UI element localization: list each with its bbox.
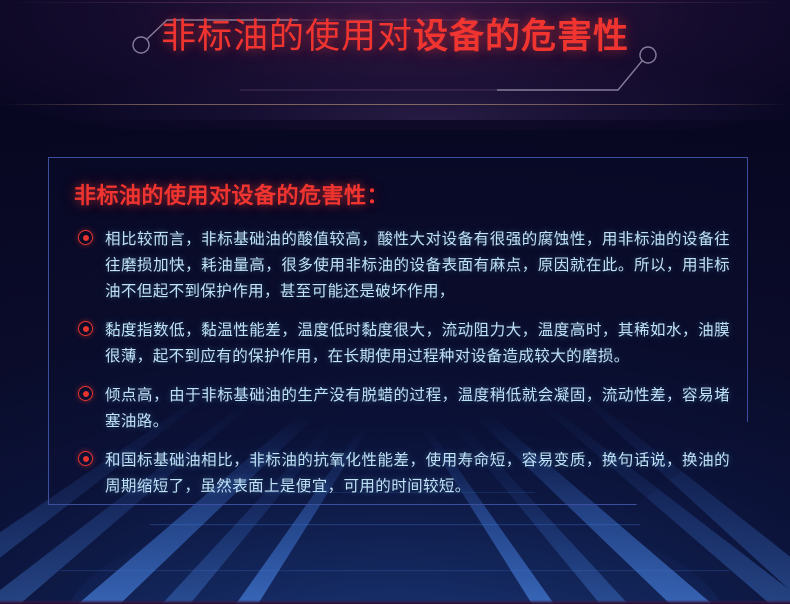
- page-root: 非标油的使用对设备的危害性 非标油的使用对设备的危害性： 相比较而言，非标基础油…: [0, 0, 790, 604]
- list-item: 和国标基础油相比，非标油的抗氧化性能差，使用寿命短，容易变质，换句话说，换油的周…: [74, 447, 730, 499]
- target-dot-icon: [78, 451, 93, 466]
- page-title-bold: 设备的危害性: [413, 17, 629, 57]
- list-item-text: 倾点高，由于非标基础油的生产没有脱蜡的过程，温度稍低就会凝固，流动性差，容易堵塞…: [105, 382, 730, 434]
- list-item-text: 和国标基础油相比，非标油的抗氧化性能差，使用寿命短，容易变质，换句话说，换油的周…: [105, 447, 730, 499]
- list-item: 相比较而言，非标基础油的酸值较高，酸性大对设备有很强的腐蚀性，用非标油的设备往往…: [74, 226, 730, 304]
- list-item: 黏度指数低，黏温性能差，温度低时黏度很大，流动阻力大，温度高时，其稀如水，油膜很…: [74, 317, 730, 369]
- content-panel: 非标油的使用对设备的危害性： 相比较而言，非标基础油的酸值较高，酸性大对设备有很…: [48, 157, 748, 517]
- list-item: 倾点高，由于非标基础油的生产没有脱蜡的过程，温度稍低就会凝固，流动性差，容易堵塞…: [74, 382, 730, 434]
- panel-heading: 非标油的使用对设备的危害性：: [74, 178, 730, 210]
- target-dot-icon: [78, 321, 93, 336]
- list-item-text: 黏度指数低，黏温性能差，温度低时黏度很大，流动阻力大，温度高时，其稀如水，油膜很…: [105, 317, 730, 369]
- page-title-light: 非标油的使用对: [161, 17, 413, 57]
- page-title: 非标油的使用对设备的危害性: [0, 20, 790, 55]
- bottom-edge-shadow: [0, 600, 790, 604]
- target-dot-icon: [78, 230, 93, 245]
- list-item-text: 相比较而言，非标基础油的酸值较高，酸性大对设备有很强的腐蚀性，用非标油的设备往往…: [105, 226, 730, 304]
- bullet-list: 相比较而言，非标基础油的酸值较高，酸性大对设备有很强的腐蚀性，用非标油的设备往往…: [74, 226, 730, 499]
- target-dot-icon: [78, 386, 93, 401]
- right-connector-line: [497, 61, 642, 90]
